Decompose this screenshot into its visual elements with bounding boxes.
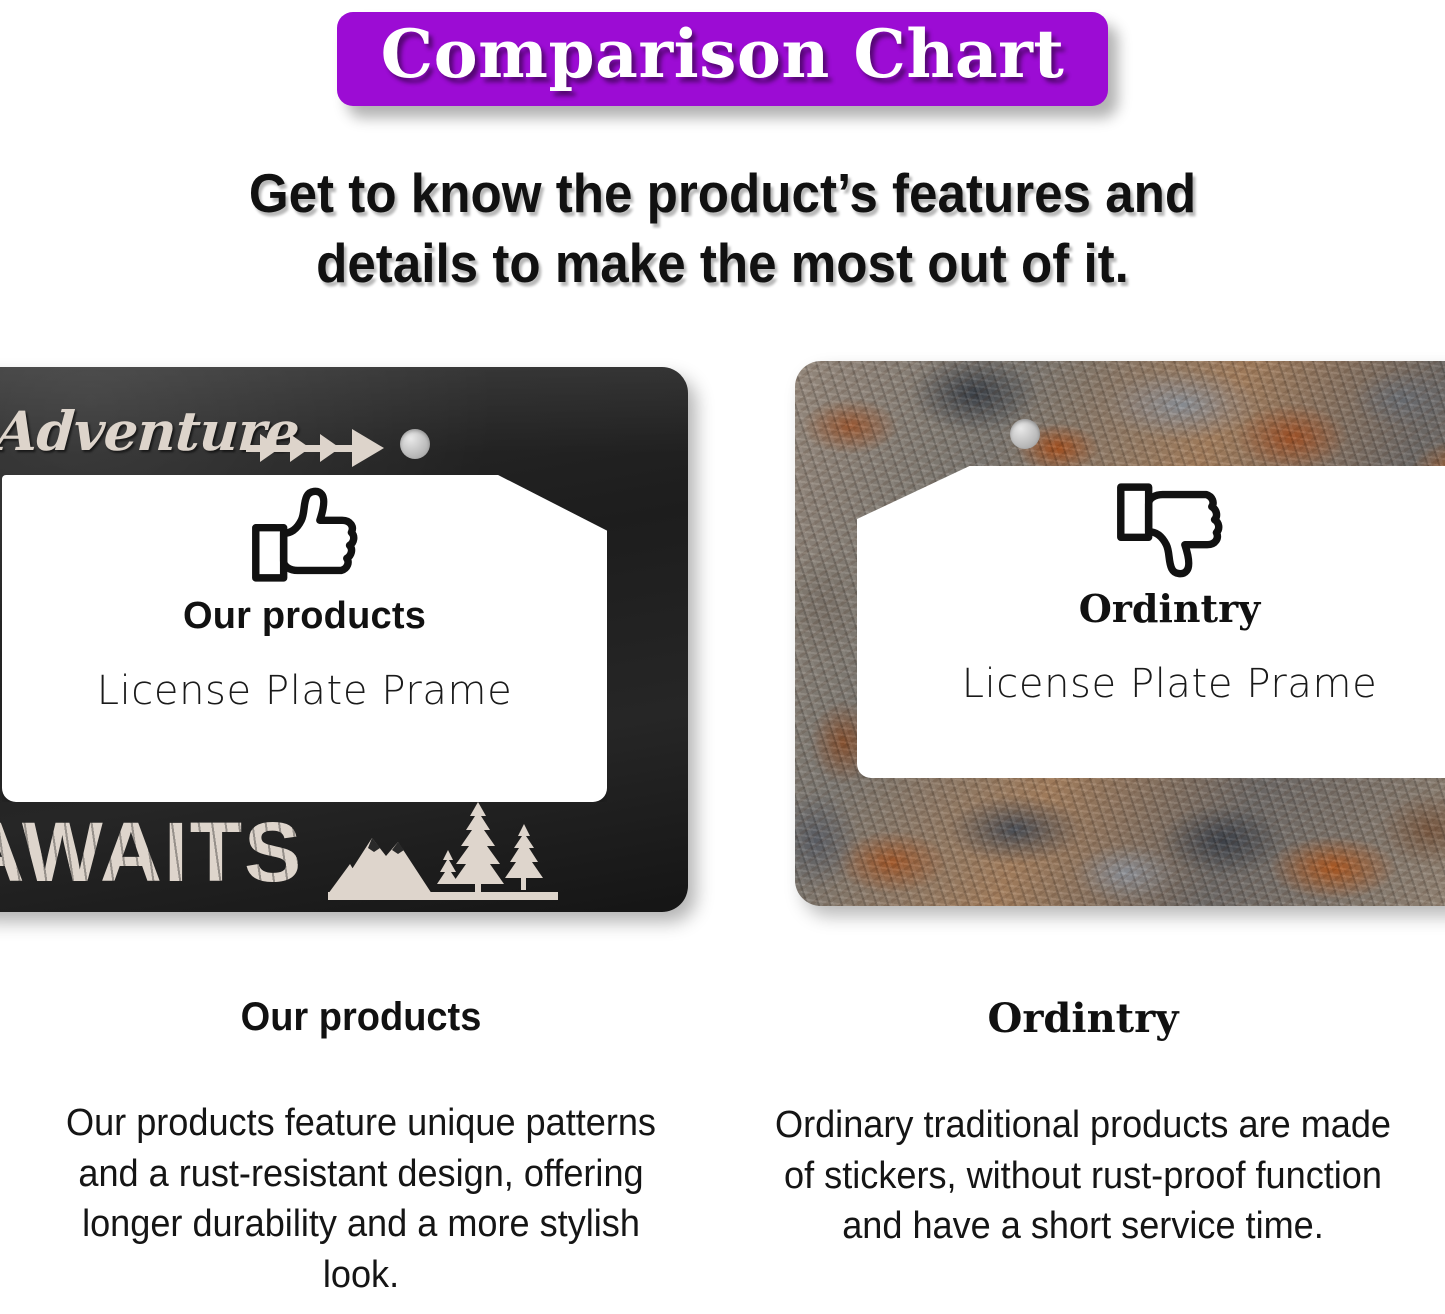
plate-window: Ordintry License Plate Prame: [857, 466, 1445, 778]
frame-top-text: Adventure: [0, 399, 301, 463]
product-comparison-images: Adventure AWAITS: [0, 355, 1445, 930]
awaits-band: AWAITS: [0, 798, 650, 906]
comparison-chart-page: Comparison Chart Get to know the product…: [0, 0, 1445, 1314]
screw-hole: [400, 429, 430, 459]
plate-content: Our products License Plate Prame: [2, 475, 607, 802]
arrow-chevron-icon: [260, 434, 280, 462]
description-heading: Ordintry: [752, 995, 1414, 1042]
arrow-chevron-icon: [320, 434, 340, 462]
adventure-band: Adventure: [0, 395, 400, 467]
arrow-head-icon: [352, 429, 384, 467]
pine-tree-icon: [505, 824, 543, 890]
subtitle-line-1: Get to know the product’s features and: [125, 158, 1320, 228]
page-title: Comparison Chart: [381, 18, 1065, 92]
plate-sublabel: License Plate Prame: [97, 668, 513, 714]
screw-hole: [1010, 419, 1040, 449]
title-banner-container: Comparison Chart: [0, 12, 1445, 106]
description-row: Our products Our products feature unique…: [0, 995, 1445, 1300]
thumbs-up-icon: [249, 485, 361, 589]
plate-window: Our products License Plate Prame: [2, 475, 607, 802]
mountain-icon: [328, 798, 558, 902]
pine-tree-icon: [452, 802, 504, 896]
description-body: Ordinary traditional products are made o…: [769, 1100, 1398, 1252]
plate-label: Our products: [183, 595, 426, 638]
plate-sublabel: License Plate Prame: [962, 661, 1378, 707]
description-column-our-product: Our products Our products feature unique…: [0, 995, 722, 1300]
thumbs-down-icon: [1114, 476, 1226, 580]
product-image-ordinary-product: Ordintry License Plate Prame: [795, 361, 1445, 906]
plate-content: Ordintry License Plate Prame: [857, 466, 1445, 778]
plate-label: Ordintry: [1079, 586, 1260, 631]
description-body: Our products feature unique patterns and…: [47, 1098, 676, 1300]
frame-bottom-text: AWAITS: [0, 804, 303, 901]
description-heading: Our products: [47, 995, 676, 1040]
description-column-ordinary-product: Ordintry Ordinary traditional products a…: [722, 995, 1444, 1300]
product-image-our-product: Adventure AWAITS: [0, 367, 688, 912]
page-subtitle: Get to know the product’s features and d…: [125, 158, 1320, 299]
arrow-chevron-icon: [290, 434, 310, 462]
subtitle-line-2: details to make the most out of it.: [125, 228, 1320, 298]
title-banner: Comparison Chart: [337, 12, 1109, 106]
